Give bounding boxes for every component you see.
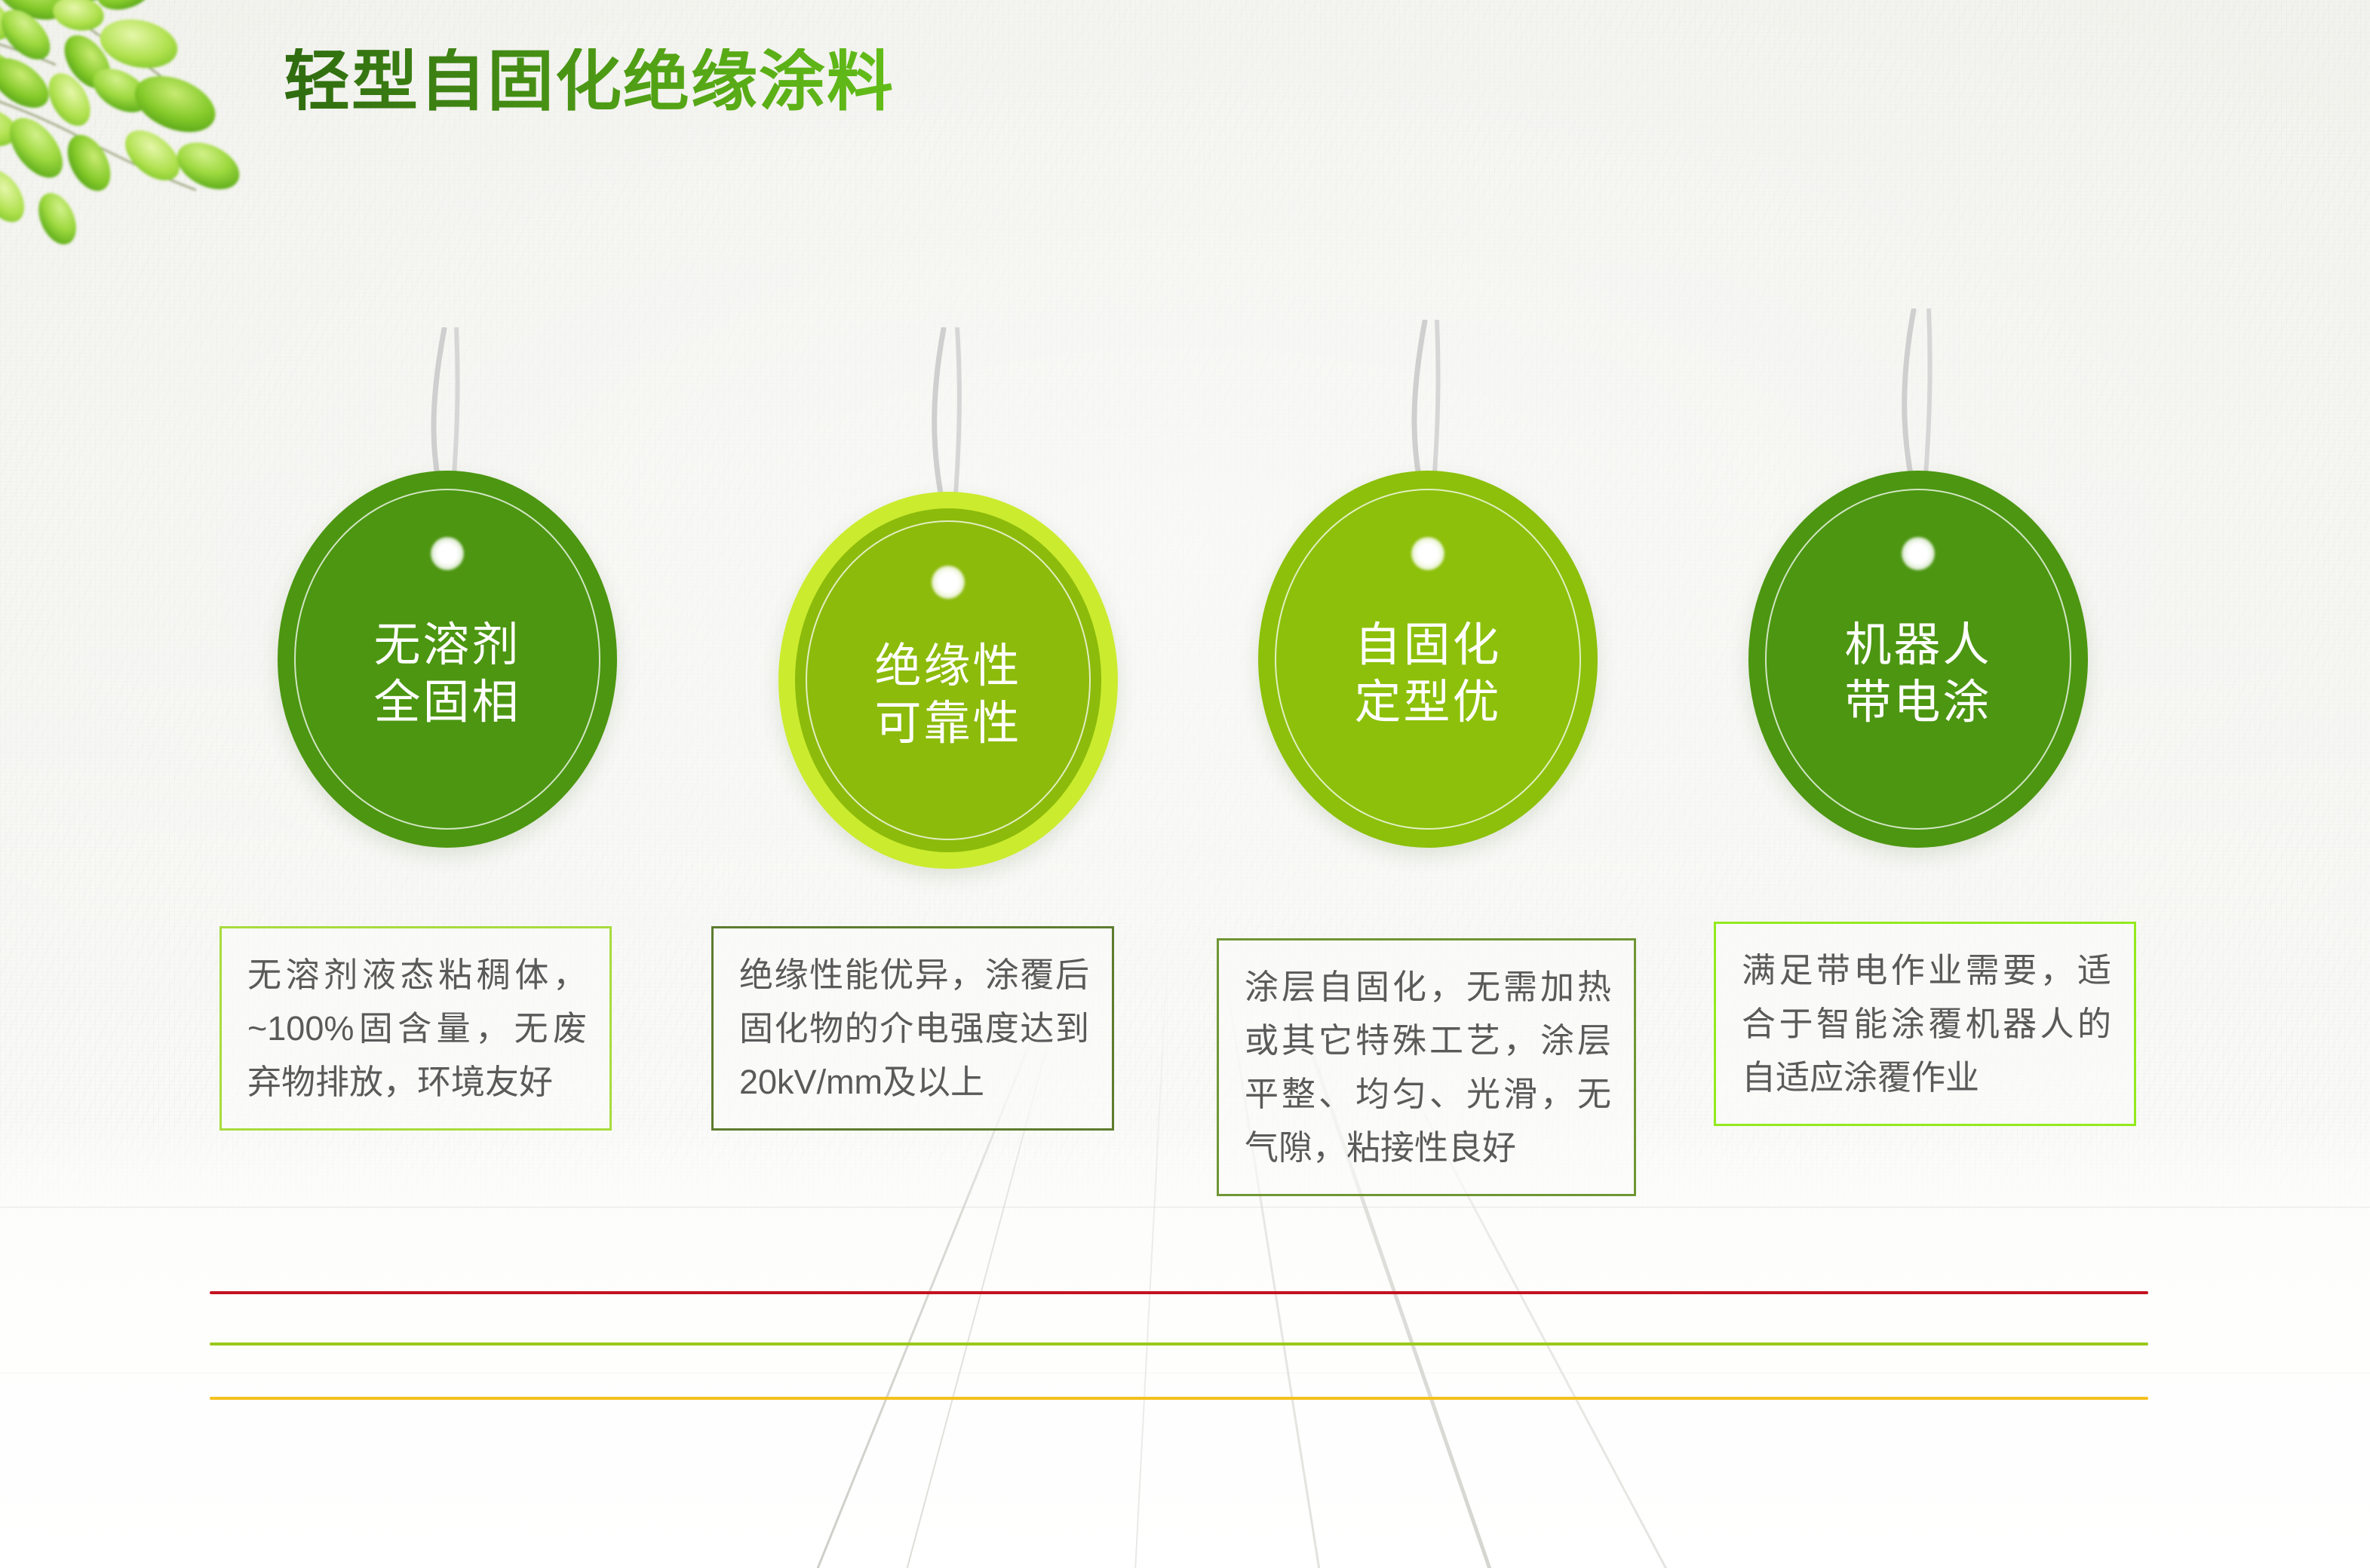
- caption-4: 满足带电作业需要，适合于智能涂覆机器人的自适应涂覆作业: [1714, 922, 2136, 1126]
- rule-red: [210, 1291, 2148, 1294]
- tag-hole-icon: [932, 566, 965, 599]
- tag-4-line-1: 机器人: [1844, 617, 1991, 674]
- tag-1-line-2: 全固相: [373, 674, 520, 732]
- slide-canvas: 轻型自固化绝缘涂料 无溶剂 全固相: [0, 0, 2370, 1568]
- tag-2-line-2: 可靠性: [874, 695, 1021, 753]
- rule-green: [210, 1342, 2148, 1346]
- tag-hole-icon: [1902, 537, 1935, 570]
- page-title: 轻型自固化绝缘涂料: [284, 48, 895, 115]
- tag-3-label: 自固化 定型优: [1354, 617, 1501, 731]
- tag-4-label: 机器人 带电涂: [1844, 617, 1991, 731]
- tag-2[interactable]: 绝缘性 可靠性: [778, 492, 1118, 869]
- tag-3-line-1: 自固化: [1354, 617, 1501, 674]
- tag-3[interactable]: 自固化 定型优: [1258, 471, 1598, 848]
- tag-1[interactable]: 无溶剂 全固相: [278, 471, 617, 848]
- tag-1-disc[interactable]: 无溶剂 全固相: [278, 471, 617, 848]
- tag-3-disc[interactable]: 自固化 定型优: [1258, 471, 1598, 848]
- tag-4-disc[interactable]: 机器人 带电涂: [1748, 471, 2088, 848]
- caption-1: 无溶剂液态粘稠体，~100%固含量，无废弃物排放，环境友好: [220, 926, 612, 1131]
- tag-2-label: 绝缘性 可靠性: [874, 638, 1021, 752]
- tag-1-label: 无溶剂 全固相: [373, 617, 520, 731]
- tag-4[interactable]: 机器人 带电涂: [1748, 471, 2088, 848]
- tag-2-disc[interactable]: 绝缘性 可靠性: [778, 492, 1118, 869]
- tag-1-line-1: 无溶剂: [373, 617, 520, 674]
- caption-3: 涂层自固化，无需加热或其它特殊工艺，涂层平整、均匀、光滑，无气隙，粘接性良好: [1217, 938, 1636, 1196]
- caption-2: 绝缘性能优异，涂覆后固化物的介电强度达到20kV/mm及以上: [711, 926, 1114, 1131]
- tag-2-line-1: 绝缘性: [874, 638, 1021, 695]
- rule-yellow: [210, 1397, 2148, 1400]
- tag-hole-icon: [1411, 537, 1444, 570]
- tag-hole-icon: [431, 537, 464, 570]
- tag-4-line-2: 带电涂: [1844, 674, 1991, 732]
- tag-3-line-2: 定型优: [1354, 674, 1501, 732]
